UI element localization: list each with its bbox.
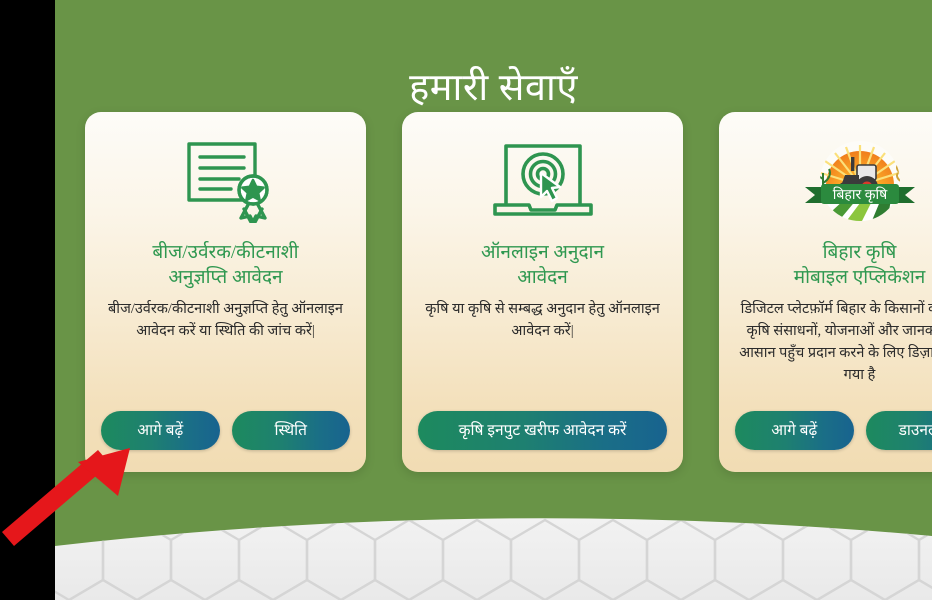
kharif-input-apply-button[interactable]: कृषि इनपुट खरीफ आवेदन करें xyxy=(418,411,667,451)
service-card-title: बीज/उर्वरक/कीटनाशी अनुज्ञप्ति आवेदन xyxy=(152,240,298,290)
logo-text: बिहार कृषि xyxy=(832,186,887,203)
laptop-target-cursor-icon xyxy=(491,138,595,224)
service-card-description: कृषि या कृषि से सम्बद्ध अनुदान हेतु ऑनला… xyxy=(420,298,665,397)
page-title: हमारी सेवाएँ xyxy=(55,65,932,111)
services-card-list: बीज/उर्वरक/कीटनाशी अनुज्ञप्ति आवेदन बीज/… xyxy=(85,112,932,472)
service-card-actions: आगे बढ़ें डाउनलोड xyxy=(735,411,932,451)
proceed-button[interactable]: आगे बढ़ें xyxy=(735,411,854,451)
service-card-title: बिहार कृषि मोबाइल एप्लिकेशन xyxy=(794,240,926,290)
service-card-online-subsidy[interactable]: ऑनलाइन अनुदान आवेदन कृषि या कृषि से सम्ब… xyxy=(402,112,683,472)
left-black-gutter xyxy=(0,0,55,600)
download-button[interactable]: डाउनलोड xyxy=(866,411,932,451)
status-button[interactable]: स्थिति xyxy=(232,411,351,451)
service-card-description: डिजिटल प्लेटफ़ॉर्म बिहार के किसानों को ज… xyxy=(737,298,932,397)
certificate-award-icon xyxy=(183,138,269,224)
bihar-krishi-logo-icon: बिहार कृषि xyxy=(801,138,919,224)
service-card-actions: आगे बढ़ें स्थिति xyxy=(101,411,350,451)
service-card-title: ऑनलाइन अनुदान आवेदन xyxy=(481,240,604,290)
service-card-licence[interactable]: बीज/उर्वरक/कीटनाशी अनुज्ञप्ति आवेदन बीज/… xyxy=(85,112,366,472)
service-card-description: बीज/उर्वरक/कीटनाशी अनुज्ञप्ति हेतु ऑनलाइ… xyxy=(103,298,348,397)
service-card-mobile-app[interactable]: बिहार कृषि बिहार कृषि मोबाइल एप्लिकेशन ड… xyxy=(719,112,932,472)
honeycomb-footer-band xyxy=(55,500,932,600)
service-card-actions: कृषि इनपुट खरीफ आवेदन करें xyxy=(418,411,667,451)
screenshot-stage: हमारी सेवाएँ xyxy=(0,0,932,600)
proceed-button[interactable]: आगे बढ़ें xyxy=(101,411,220,451)
